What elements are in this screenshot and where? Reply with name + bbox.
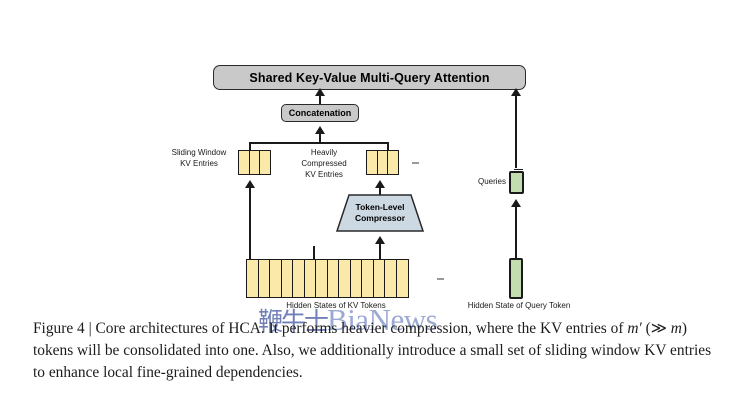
label-heavily-compressed-kv-entries: Heavily Compressed KV Entries <box>288 148 360 180</box>
merge-bus-right-drop <box>387 142 389 150</box>
queries-stack-ridge <box>514 169 523 170</box>
kv-cell <box>387 150 399 175</box>
label-sliding-line1: Sliding Window <box>160 148 238 159</box>
label-heavily-line3: KV Entries <box>288 170 360 181</box>
caption-line1: Core architectures of HCA. It performs h… <box>96 320 628 337</box>
merge-bus-horizontal <box>249 142 389 144</box>
compressor-label-line2: Compressor <box>355 213 405 224</box>
queries-token-stack <box>509 168 524 194</box>
connector-queryhidden-to-queries <box>515 206 517 258</box>
kv-cell <box>259 150 271 175</box>
concatenation-box: Concatenation <box>281 104 359 122</box>
compressed-kv-cells <box>366 150 399 175</box>
compressor-label-group: Token-Level Compressor <box>336 194 424 232</box>
label-sliding-line2: KV Entries <box>160 159 238 170</box>
hidden-state-cell <box>396 259 409 298</box>
connector-hidden-to-sliding <box>249 186 251 262</box>
queries-token-body <box>509 171 524 194</box>
token-level-compressor: Token-Level Compressor <box>336 194 424 232</box>
hidden-state-query-token-cell <box>509 258 523 299</box>
label-hidden-state-of-query-token: Hidden State of Query Token <box>444 301 594 312</box>
sliding-window-kv-cells <box>238 150 271 175</box>
arrowhead-compressor-to-compressed <box>375 180 385 188</box>
label-heavily-line2: Compressed <box>288 159 360 170</box>
caption-math-m-prime: m′ <box>627 320 641 337</box>
caption-prefix: Figure 4 | <box>33 320 96 337</box>
hidden-states-ellipsis <box>437 278 444 280</box>
arrowhead-hidden-to-sliding <box>245 180 255 188</box>
shared-attention-box: Shared Key-Value Multi-Query Attention <box>213 65 526 90</box>
merge-bus-left-drop <box>249 142 251 150</box>
compressor-label-line1: Token-Level <box>356 202 405 213</box>
label-sliding-window-kv-entries: Sliding Window KV Entries <box>160 148 238 170</box>
hidden-states-kv-cells <box>246 259 409 298</box>
label-heavily-line1: Heavily <box>288 148 360 159</box>
arrowhead-queryhidden-to-queries <box>511 199 521 207</box>
arrowhead-hidden-to-compressor <box>375 236 385 244</box>
arrowhead-queries-to-attention <box>511 88 521 96</box>
figure-caption: Figure 4 | Core architectures of HCA. It… <box>33 318 723 384</box>
figure-diagram: Shared Key-Value Multi-Query Attention C… <box>0 0 750 310</box>
arrowhead-bus-to-concat <box>315 126 325 134</box>
arrowhead-concat-to-attention <box>315 88 325 96</box>
compressed-kv-ellipsis <box>412 162 419 164</box>
caption-math-m: m <box>671 320 682 337</box>
label-queries: Queries <box>466 177 506 188</box>
connector-queries-to-attention <box>515 92 517 168</box>
concatenation-label: Concatenation <box>289 108 352 118</box>
caption-math-gg: (≫ <box>642 320 671 337</box>
shared-attention-label: Shared Key-Value Multi-Query Attention <box>249 71 489 85</box>
